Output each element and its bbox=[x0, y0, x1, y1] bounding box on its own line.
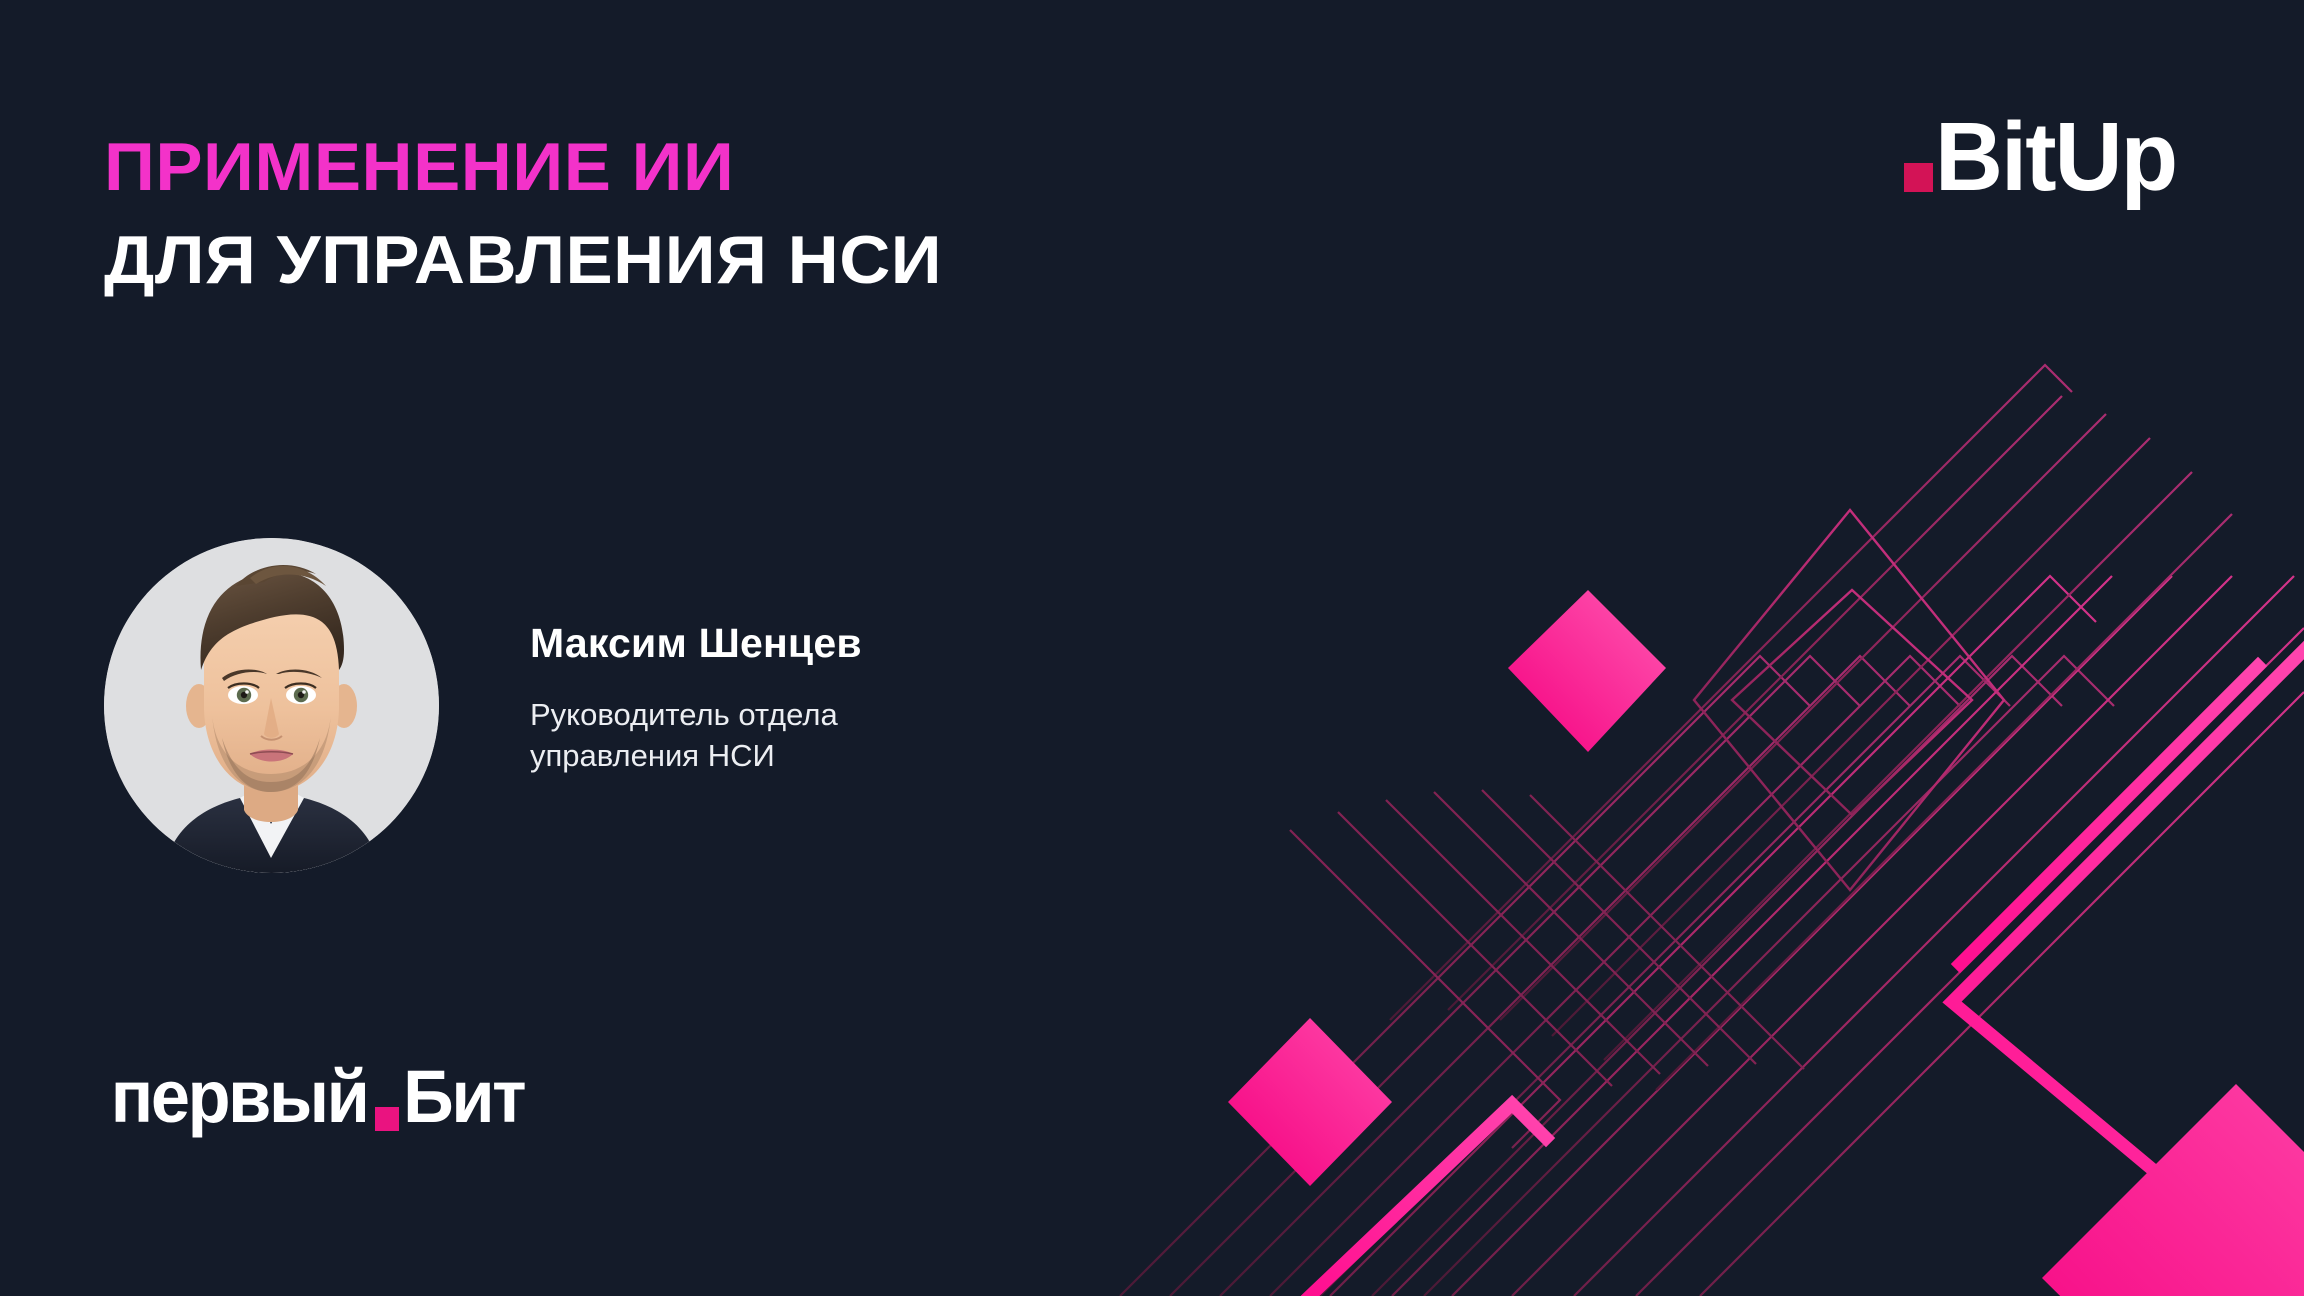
speaker-block: Максим Шенцев Руководитель отдела управл… bbox=[104, 538, 950, 873]
speaker-role: Руководитель отдела управления НСИ bbox=[530, 695, 950, 777]
bitup-logo-text: BitUp bbox=[1935, 118, 2176, 196]
firstbit-word-first: первый bbox=[111, 1060, 368, 1134]
speaker-text: Максим Шенцев Руководитель отдела управл… bbox=[530, 620, 950, 791]
firstbit-dot-icon bbox=[375, 1107, 399, 1131]
presentation-slide: ПРИМЕНЕНИЕ ИИ ДЛЯ УПРАВЛЕНИЯ НСИ BitUp bbox=[0, 0, 2304, 1296]
title-line-primary: ПРИМЕНЕНИЕ ИИ bbox=[104, 133, 942, 202]
decor-thick-chevron-line-b bbox=[1310, 1104, 1546, 1296]
bitup-logo: BitUp bbox=[1904, 118, 2184, 196]
firstbit-word-second: Бит bbox=[403, 1060, 524, 1134]
decor-upper-diagonal-lines bbox=[1390, 365, 2232, 1090]
decor-thin-chevron-lines bbox=[1120, 656, 2114, 1296]
page-title: ПРИМЕНЕНИЕ ИИ ДЛЯ УПРАВЛЕНИЯ НСИ bbox=[104, 133, 910, 296]
decor-thick-chevron-line-c bbox=[1952, 650, 2304, 1296]
bitup-dot-icon bbox=[1904, 163, 1933, 192]
decor-diagonal-long-lines bbox=[1330, 576, 2304, 1296]
decor-thick-chevron-line-a bbox=[1960, 666, 2258, 964]
decor-diamond-filled-lower bbox=[1228, 1018, 1392, 1186]
decor-lower-thin-chevrons bbox=[1290, 790, 1804, 1148]
decor-outlined-diamonds bbox=[1694, 510, 2004, 890]
decor-thick-chevron-right bbox=[1950, 900, 2304, 1296]
firstbit-logo: первый Бит bbox=[104, 1060, 528, 1134]
decor-diamond-filled-corner bbox=[2042, 1084, 2304, 1296]
title-line-secondary: ДЛЯ УПРАВЛЕНИЯ НСИ bbox=[104, 226, 942, 295]
speaker-name: Максим Шенцев bbox=[530, 620, 950, 667]
avatar-photo bbox=[104, 538, 439, 873]
decor-diamond-filled-upper bbox=[1508, 590, 1666, 752]
avatar bbox=[104, 538, 439, 873]
